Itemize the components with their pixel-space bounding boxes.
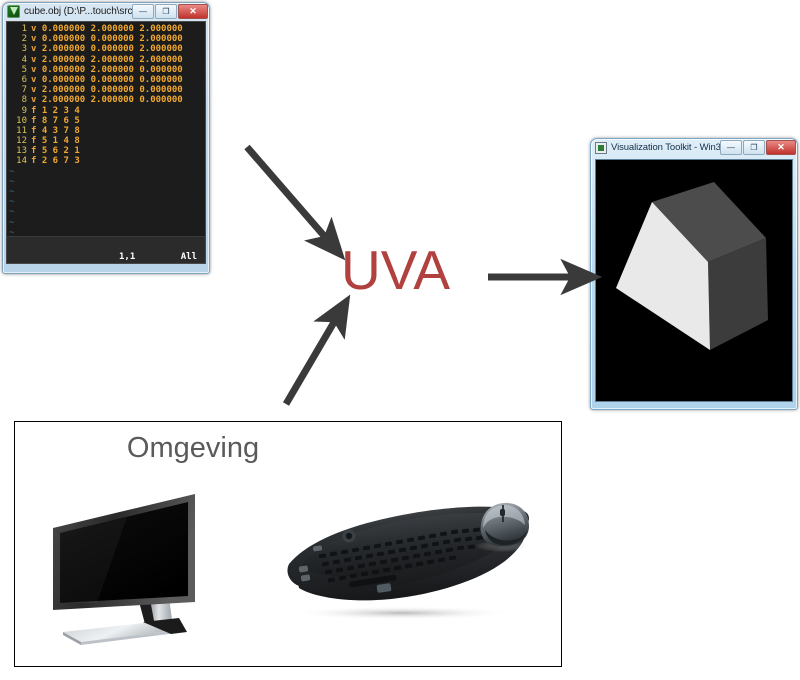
obj-values: 2.000000 2.000000 2.000000 xyxy=(42,55,183,65)
scroll-indicator: All xyxy=(181,252,197,262)
close-icon: ✕ xyxy=(767,141,795,154)
code-line: 3v 2.000000 0.000000 2.000000 xyxy=(7,44,205,54)
vtk-window[interactable]: Visualization Toolkit - Win32Open... — ❐… xyxy=(590,138,798,410)
obj-values: 8 7 6 5 xyxy=(42,116,80,126)
line-number: 14 xyxy=(7,156,31,166)
maximize-button[interactable]: ❐ xyxy=(743,140,765,155)
code-line: 13f 5 6 2 1 xyxy=(7,146,205,156)
line-number: 6 xyxy=(7,75,31,85)
obj-values: 0.000000 0.000000 2.000000 xyxy=(42,34,183,44)
close-button[interactable]: ✕ xyxy=(178,4,208,19)
monitor-image xyxy=(37,482,267,652)
omgeving-title: Omgeving xyxy=(15,432,561,465)
arrow-environment-to-uva xyxy=(286,312,340,404)
maximize-button[interactable]: ❐ xyxy=(155,4,177,19)
uva-label: UVA xyxy=(341,243,450,298)
obj-values: 0.000000 2.000000 2.000000 xyxy=(42,24,183,34)
rendered-cube xyxy=(596,160,792,401)
obj-values: 2.000000 0.000000 2.000000 xyxy=(42,44,183,54)
empty-line-marker: ~ xyxy=(7,167,205,177)
obj-keyword: v xyxy=(31,55,42,65)
obj-keyword: f xyxy=(31,116,42,126)
omgeving-panel: Omgeving xyxy=(14,421,562,667)
code-line: 9f 1 2 3 4 xyxy=(7,106,205,116)
obj-values: 0.000000 0.000000 0.000000 xyxy=(42,75,183,85)
obj-keyword: f xyxy=(31,156,42,166)
obj-keyword: v xyxy=(31,24,42,34)
gvim-text-area[interactable]: 1v 0.000000 2.000000 2.0000002v 0.000000… xyxy=(6,21,206,264)
line-number: 2 xyxy=(7,34,31,44)
vtk-window-controls[interactable]: — ❐ ✕ xyxy=(720,140,796,155)
close-icon: ✕ xyxy=(179,5,207,18)
line-number: 10 xyxy=(7,116,31,126)
gvim-title-text: cube.obj (D:\P...touch\src) - GVIM xyxy=(24,6,132,17)
arrow-editor-to-uva xyxy=(247,147,332,245)
vtk-app-icon xyxy=(595,142,607,154)
obj-keyword: v xyxy=(31,95,42,105)
empty-line-marker: ~ xyxy=(7,177,205,187)
empty-line-marker: ~ xyxy=(7,197,205,207)
obj-keyword: v xyxy=(31,75,42,85)
maximize-icon: ❐ xyxy=(156,5,176,18)
code-line: 12f 5 1 4 8 xyxy=(7,136,205,146)
obj-values: 2.000000 0.000000 0.000000 xyxy=(42,85,183,95)
line-number: 12 xyxy=(7,136,31,146)
code-line: 5v 0.000000 2.000000 0.000000 xyxy=(7,65,205,75)
gvim-window[interactable]: cube.obj (D:\P...touch\src) - GVIM — ❐ ✕… xyxy=(2,2,210,274)
minimize-icon: — xyxy=(721,141,741,154)
obj-keyword: v xyxy=(31,44,42,54)
line-number: 1 xyxy=(7,24,31,34)
code-line: 8v 2.000000 2.000000 0.000000 xyxy=(7,95,205,105)
line-number: 8 xyxy=(7,95,31,105)
obj-values: 5 6 2 1 xyxy=(42,146,80,156)
obj-keyword: f xyxy=(31,136,42,146)
empty-line-marker: ~ xyxy=(7,218,205,228)
obj-keyword: f xyxy=(31,146,42,156)
vim-icon xyxy=(7,5,20,18)
obj-keyword: v xyxy=(31,85,42,95)
code-line: 14f 2 6 7 3 xyxy=(7,156,205,166)
close-button[interactable]: ✕ xyxy=(766,140,796,155)
line-number: 7 xyxy=(7,85,31,95)
vtk-render-viewport[interactable] xyxy=(595,159,793,402)
code-line: 6v 0.000000 0.000000 0.000000 xyxy=(7,75,205,85)
code-line: 10f 8 7 6 5 xyxy=(7,116,205,126)
code-line: 7v 2.000000 0.000000 0.000000 xyxy=(7,85,205,95)
gvim-status-bar: 1,1 All xyxy=(7,251,205,263)
vtk-title-text: Visualization Toolkit - Win32Open... xyxy=(611,142,720,153)
gvim-window-controls[interactable]: — ❐ ✕ xyxy=(132,4,208,19)
vtk-titlebar[interactable]: Visualization Toolkit - Win32Open... — ❐… xyxy=(590,138,798,157)
cursor-position: 1,1 xyxy=(119,252,135,262)
obj-values: 2 6 7 3 xyxy=(42,156,80,166)
line-number: 4 xyxy=(7,55,31,65)
minimize-button[interactable]: — xyxy=(132,4,154,19)
empty-line-marker: ~ xyxy=(7,207,205,217)
obj-values: 4 3 7 8 xyxy=(42,126,80,136)
line-number: 5 xyxy=(7,65,31,75)
obj-values: 0.000000 2.000000 0.000000 xyxy=(42,65,183,75)
obj-values: 1 2 3 4 xyxy=(42,106,80,116)
line-number: 13 xyxy=(7,146,31,156)
minimize-button[interactable]: — xyxy=(720,140,742,155)
line-number: 3 xyxy=(7,44,31,54)
minimize-icon: — xyxy=(133,5,153,18)
line-number: 11 xyxy=(7,126,31,136)
obj-keyword: v xyxy=(31,65,42,75)
gvim-code-lines: 1v 0.000000 2.000000 2.0000002v 0.000000… xyxy=(7,22,205,258)
code-line: 2v 0.000000 0.000000 2.000000 xyxy=(7,34,205,44)
maximize-icon: ❐ xyxy=(744,141,764,154)
code-line: 11f 4 3 7 8 xyxy=(7,126,205,136)
line-number: 9 xyxy=(7,106,31,116)
obj-values: 2.000000 2.000000 0.000000 xyxy=(42,95,183,105)
obj-keyword: f xyxy=(31,106,42,116)
code-line: 1v 0.000000 2.000000 2.000000 xyxy=(7,24,205,34)
empty-line-marker: ~ xyxy=(7,187,205,197)
obj-values: 5 1 4 8 xyxy=(42,136,80,146)
obj-keyword: f xyxy=(31,126,42,136)
keyboard-and-mouse-image xyxy=(277,492,547,622)
code-line: 4v 2.000000 2.000000 2.000000 xyxy=(7,55,205,65)
obj-keyword: v xyxy=(31,34,42,44)
gvim-titlebar[interactable]: cube.obj (D:\P...touch\src) - GVIM — ❐ ✕ xyxy=(2,2,210,21)
